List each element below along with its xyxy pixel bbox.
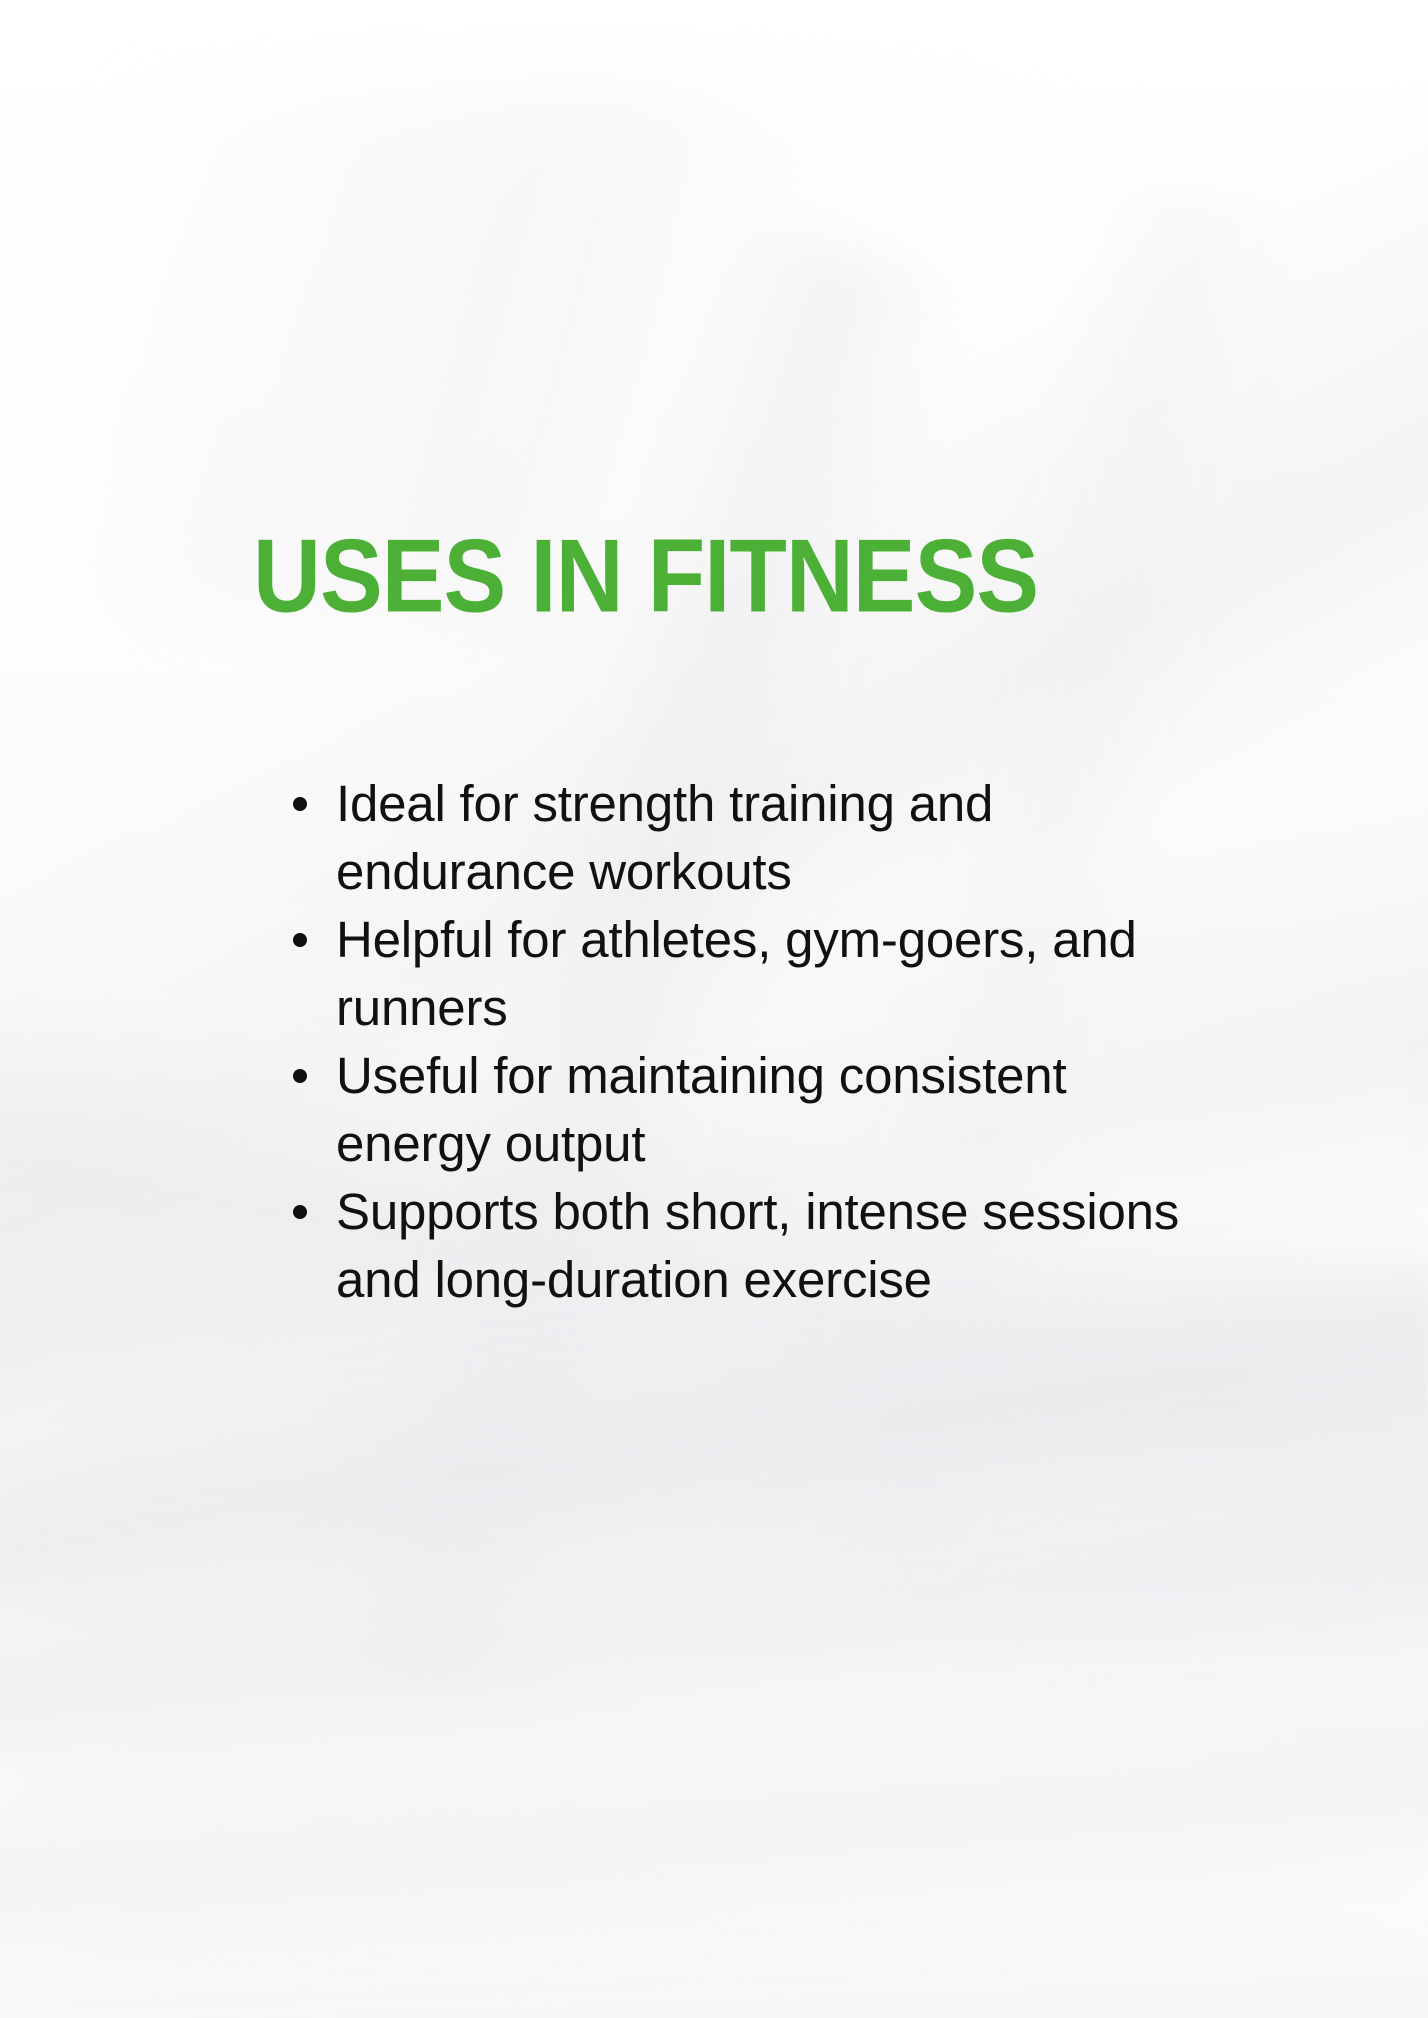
- list-item-label: Useful for maintaining consistent energy…: [336, 1047, 1066, 1172]
- list-item: Helpful for athletes, gym-goers, and run…: [280, 906, 1180, 1042]
- list-item: Useful for maintaining consistent energy…: [280, 1042, 1180, 1178]
- presentation-slide: USES IN FITNESS Ideal for strength train…: [0, 0, 1428, 2018]
- list-item: Ideal for strength training and enduranc…: [280, 770, 1180, 906]
- list-item-label: Ideal for strength training and enduranc…: [336, 775, 993, 900]
- bullet-list: Ideal for strength training and enduranc…: [280, 770, 1180, 1314]
- slide-content: USES IN FITNESS Ideal for strength train…: [0, 0, 1428, 2018]
- list-item: Supports both short, intense sessions an…: [280, 1178, 1180, 1314]
- list-item-label: Helpful for athletes, gym-goers, and run…: [336, 911, 1137, 1036]
- list-item-label: Supports both short, intense sessions an…: [336, 1183, 1179, 1308]
- slide-title: USES IN FITNESS: [253, 525, 1038, 629]
